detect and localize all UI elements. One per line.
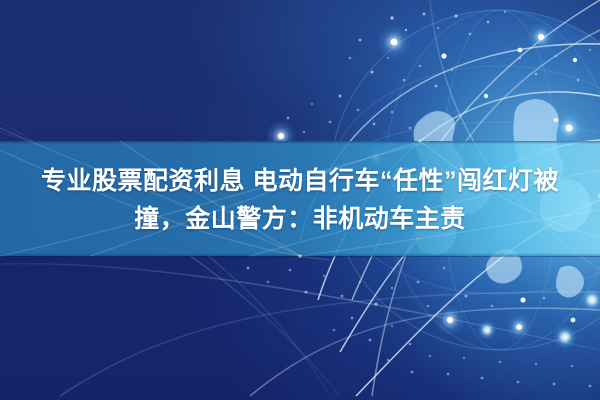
title-line-1: 专业股票配资利息 电动自行车“任性”闯红灯被 bbox=[0, 162, 600, 200]
page-title: 专业股票配资利息 电动自行车“任性”闯红灯被 撞，金山警方：非机动车主责 bbox=[0, 162, 600, 238]
banner-image: 专业股票配资利息 电动自行车“任性”闯红灯被 撞，金山警方：非机动车主责 bbox=[0, 0, 600, 400]
title-line-2: 撞，金山警方：非机动车主责 bbox=[0, 200, 600, 238]
